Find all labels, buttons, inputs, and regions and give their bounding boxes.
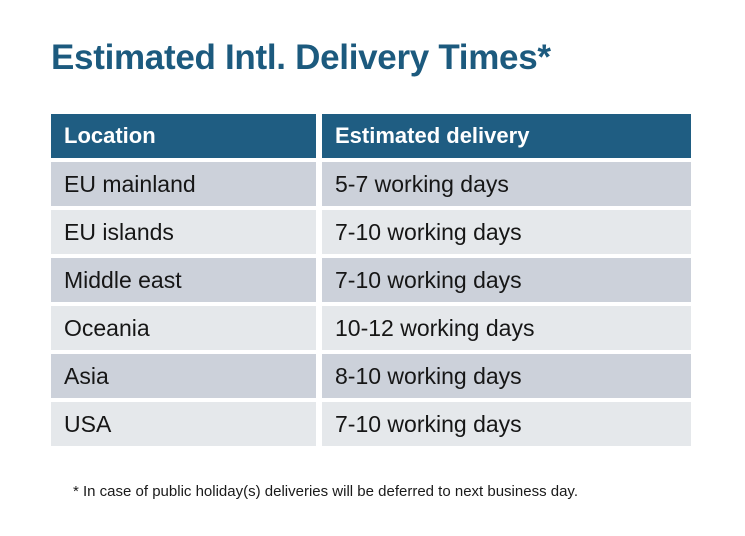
table-header-row: Location Estimated delivery <box>51 114 691 158</box>
cell-delivery: 7-10 working days <box>322 402 691 446</box>
footnote-text: * In case of public holiday(s) deliverie… <box>73 481 578 503</box>
cell-delivery: 7-10 working days <box>322 210 691 254</box>
cell-delivery: 10-12 working days <box>322 306 691 350</box>
cell-location: Middle east <box>51 258 316 302</box>
table-row: EU mainland 5-7 working days <box>51 162 691 206</box>
table-row: Asia 8-10 working days <box>51 354 691 398</box>
column-header-delivery: Estimated delivery <box>322 114 691 158</box>
delivery-times-page: Estimated Intl. Delivery Times* Location… <box>0 0 745 536</box>
cell-location: Oceania <box>51 306 316 350</box>
table-row: Oceania 10-12 working days <box>51 306 691 350</box>
cell-delivery: 5-7 working days <box>322 162 691 206</box>
delivery-times-table: Location Estimated delivery EU mainland … <box>51 114 691 450</box>
table-row: USA 7-10 working days <box>51 402 691 446</box>
cell-location: EU islands <box>51 210 316 254</box>
cell-delivery: 7-10 working days <box>322 258 691 302</box>
cell-location: Asia <box>51 354 316 398</box>
column-header-location: Location <box>51 114 316 158</box>
cell-location: USA <box>51 402 316 446</box>
cell-location: EU mainland <box>51 162 316 206</box>
page-title: Estimated Intl. Delivery Times* <box>51 36 551 80</box>
table-row: Middle east 7-10 working days <box>51 258 691 302</box>
table-row: EU islands 7-10 working days <box>51 210 691 254</box>
cell-delivery: 8-10 working days <box>322 354 691 398</box>
